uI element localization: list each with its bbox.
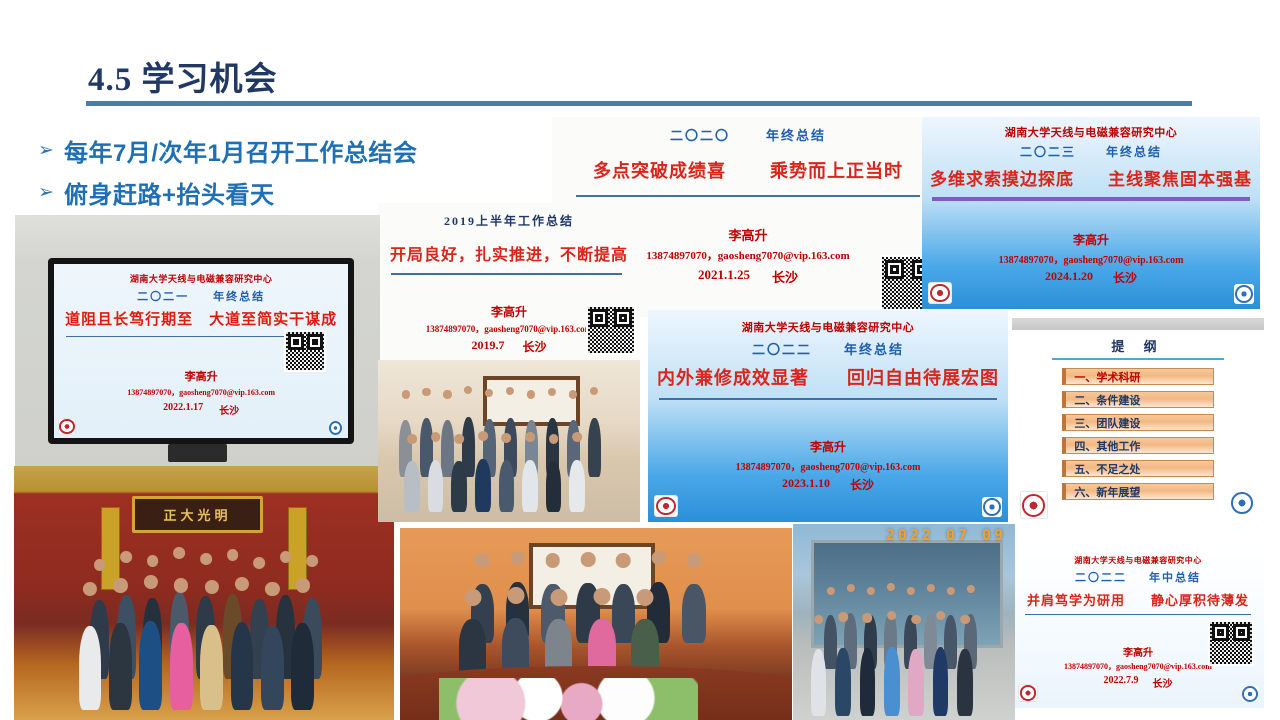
- summary-2020-year: 二〇二〇: [670, 125, 730, 144]
- summary-2019-city: 长沙: [522, 338, 546, 355]
- outline-item-0: 一、学术科研: [1062, 368, 1213, 385]
- outline-item-5: 六、新年展望: [1062, 483, 1213, 500]
- summary-2022ye-city: 长沙: [850, 476, 874, 493]
- bullet-item-0: ➢ 每年7月/次年1月召开工作总结会: [38, 133, 417, 168]
- image-group-photo-hall: 正大光明: [14, 466, 394, 720]
- tv-summary-slogan: 道阻且长笃行期至 大道至简实干谋成: [54, 308, 349, 329]
- lab-seal-icon: [1230, 491, 1254, 515]
- tv-summary-year: 二〇二一: [137, 288, 189, 304]
- summary-2020-slogan-right: 乘势而上正当时: [770, 157, 903, 183]
- summary-2020-slogan: 多点突破成绩喜 乘势而上正当时: [552, 157, 944, 183]
- outline-rule: [1052, 358, 1223, 360]
- university-seal-icon: [654, 495, 678, 517]
- university-seal-icon: [1020, 491, 1048, 519]
- summary-2022my-date: 2022.7.9: [1104, 675, 1139, 690]
- image-group-photo-building: 2022 07 09: [793, 524, 1015, 720]
- image-summary-2022-mid-year: 湖南大学天线与电磁兼容研究中心 二〇二二 年中总结 并肩笃学为研用 静心厚积待薄…: [1012, 548, 1264, 708]
- lab-seal-icon: [1234, 284, 1254, 304]
- outline-title: 提 纲: [1012, 336, 1264, 355]
- summary-2020-date: 2021.1.25: [698, 267, 750, 286]
- summary-2022ye-date: 2023.1.10: [782, 476, 830, 493]
- university-seal-icon: [928, 282, 952, 304]
- tv-summary-slogan-right: 大道至简实干谋成: [209, 308, 337, 329]
- summary-2022ye-kind: 年终总结: [844, 339, 904, 358]
- summary-2023-year: 二〇二三: [1020, 143, 1076, 160]
- summary-2023-org: 湖南大学天线与电磁兼容研究中心: [922, 124, 1260, 140]
- university-seal-icon: [1018, 684, 1038, 702]
- crowd-front-row: [14, 593, 394, 710]
- summary-2023-slogan: 多维求索摸边探底 主线聚焦固本强基: [922, 165, 1260, 190]
- qr-code-icon: [284, 330, 326, 372]
- crowd-front-row: [793, 626, 1015, 716]
- summary-2022my-slogan: 并肩笃学为研用 静心厚积待薄发: [1012, 590, 1264, 609]
- summary-2022ye-slogan-right: 回归自由待展宏图: [847, 364, 999, 390]
- presentation-slide: 4.5 学习机会 ➢ 每年7月/次年1月召开工作总结会 ➢ 俯身赶路+抬头看天 …: [0, 0, 1280, 720]
- bullet-label-1: 俯身赶路+抬头看天: [64, 175, 275, 210]
- outline-topbar: [1012, 318, 1264, 330]
- bullet-item-1: ➢ 俯身赶路+抬头看天: [38, 175, 275, 210]
- summary-2022my-org: 湖南大学天线与电磁兼容研究中心: [1012, 555, 1264, 566]
- summary-2022ye-org: 湖南大学天线与电磁兼容研究中心: [648, 319, 1008, 335]
- summary-2019-title: 2019上半年工作总结: [378, 212, 640, 229]
- image-room-with-tv: 湖南大学天线与电磁兼容研究中心 二〇二一 年终总结 道阻且长笃行期至 大道至简实…: [15, 215, 380, 467]
- tv-stand: [168, 444, 226, 462]
- tv-summary-contact: 13874897070，gaosheng7070@vip.163.com: [54, 387, 349, 398]
- outline-item-4: 五、不足之处: [1062, 460, 1213, 477]
- crowd-front-row: [378, 441, 640, 512]
- image-group-photo-banquet: [400, 528, 792, 720]
- tv-summary-org: 湖南大学天线与电磁兼容研究中心: [54, 272, 349, 285]
- summary-2020-slogan-left: 多点突破成绩喜: [593, 157, 726, 183]
- page-title: 4.5 学习机会: [88, 52, 278, 100]
- summary-2020-city: 长沙: [772, 267, 798, 286]
- summary-2023-name: 李高升: [922, 231, 1260, 248]
- image-summary-2019: 2019上半年工作总结 开局良好，扎实推进，不断提高 李高升 138748970…: [378, 203, 640, 361]
- summary-2019-slogan-text: 开局良好，扎实推进，不断提高: [390, 241, 628, 265]
- summary-2022ye-year: 二〇二二: [752, 339, 812, 358]
- summary-2023-slogan-left: 多维求索摸边探底: [930, 165, 1074, 190]
- lab-seal-icon: [982, 497, 1002, 517]
- summary-2022my-slogan-left: 并肩笃学为研用: [1027, 590, 1125, 609]
- chevron-bullet-icon: ➢: [38, 183, 64, 202]
- summary-2023-rule: [932, 197, 1250, 201]
- summary-2020-kind: 年终总结: [766, 125, 826, 144]
- summary-2020-rule: [576, 195, 921, 197]
- bullet-label-0: 每年7月/次年1月召开工作总结会: [64, 133, 417, 168]
- summary-2022my-slogan-right: 静心厚积待薄发: [1151, 590, 1249, 609]
- summary-2023-date: 2024.1.20: [1045, 269, 1093, 286]
- outline-item-3: 四、其他工作: [1062, 437, 1213, 454]
- summary-2022my-rule: [1025, 614, 1252, 615]
- chevron-bullet-icon: ➢: [38, 141, 64, 160]
- hall-plaque: 正大光明: [132, 496, 263, 532]
- table-flowers: [439, 678, 698, 720]
- tv-display: 湖南大学天线与电磁兼容研究中心 二〇二一 年终总结 道阻且长笃行期至 大道至简实…: [48, 258, 355, 444]
- summary-2022ye-slogan-left: 内外兼修成效显著: [657, 364, 809, 390]
- summary-2023-kind: 年终总结: [1106, 143, 1162, 160]
- title-underline-rule: [86, 101, 1192, 106]
- summary-2023-slogan-right: 主线聚焦固本强基: [1108, 165, 1252, 190]
- photo-timestamp: 2022 07 09: [886, 526, 1006, 544]
- summary-2022my-year: 二〇二二: [1075, 569, 1127, 585]
- image-summary-2022-year-end: 湖南大学天线与电磁兼容研究中心 二〇二二 年终总结 内外兼修成效显著 回归自由待…: [648, 310, 1008, 522]
- summary-2022ye-rule: [659, 398, 997, 400]
- summary-2019-rule: [391, 273, 622, 275]
- summary-2019-slogan: 开局良好，扎实推进，不断提高: [378, 241, 640, 265]
- summary-2023-contact: 13874897070，gaosheng7070@vip.163.com: [922, 251, 1260, 266]
- summary-2023-city: 长沙: [1113, 269, 1137, 286]
- qr-code-icon: [586, 305, 636, 355]
- tv-summary-date: 2022.1.17: [163, 402, 203, 417]
- outline-item-list: 一、学术科研 二、条件建设 三、团队建设 四、其他工作 五、不足之处 六、新年展…: [1062, 368, 1213, 506]
- outline-item-2: 三、团队建设: [1062, 414, 1213, 431]
- summary-2019-date: 2019.7: [471, 338, 504, 355]
- lab-seal-icon: [329, 421, 342, 434]
- image-outline-slide: 提 纲 一、学术科研 二、条件建设 三、团队建设 四、其他工作 五、不足之处 六…: [1012, 318, 1264, 530]
- university-seal-icon: [58, 418, 76, 435]
- qr-code-icon: [1208, 620, 1254, 666]
- image-group-photo-lobby: [378, 360, 640, 522]
- outline-item-1: 二、条件建设: [1062, 391, 1213, 408]
- summary-2022my-city: 长沙: [1153, 675, 1173, 690]
- summary-2022my-kind: 年中总结: [1149, 569, 1201, 585]
- tv-summary-slogan-left: 道阻且长笃行期至: [65, 308, 193, 329]
- tv-summary-kind: 年终总结: [213, 288, 265, 304]
- image-summary-2023: 湖南大学天线与电磁兼容研究中心 二〇二三 年终总结 多维求索摸边探底 主线聚焦固…: [922, 117, 1260, 309]
- tv-summary-city: 长沙: [219, 402, 239, 417]
- summary-2022ye-name: 李高升: [648, 438, 1008, 455]
- lab-seal-icon: [1242, 686, 1258, 702]
- summary-2022ye-slogan: 内外兼修成效显著 回归自由待展宏图: [648, 364, 1008, 390]
- summary-2022ye-contact: 13874897070，gaosheng7070@vip.163.com: [648, 458, 1008, 473]
